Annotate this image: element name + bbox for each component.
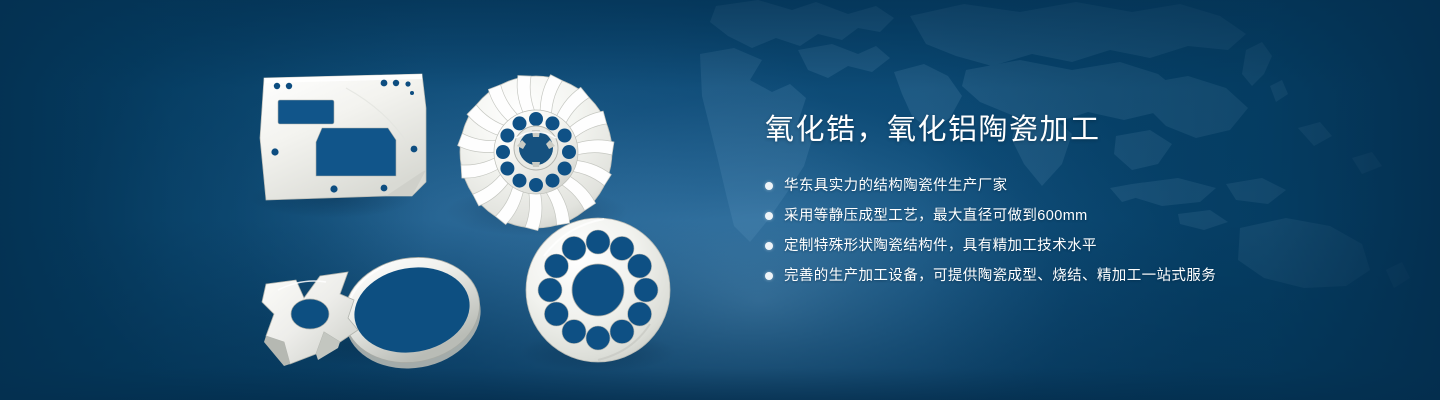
list-item-label: 完善的生产加工设备，可提供陶瓷成型、烧结、精加工一站式服务 [784,266,1216,286]
list-item: 采用等静压成型工艺，最大直径可做到600mm [765,206,1385,226]
list-item-label: 定制特殊形状陶瓷结构件，具有精加工技术水平 [784,236,1097,256]
bullet-dot-icon [765,242,773,250]
product-ceramic-disc [526,218,670,362]
product-ceramic-plate [260,74,426,200]
bullet-dot-icon [765,182,773,190]
promo-banner: 氧化锆，氧化铝陶瓷加工 华东具实力的结构陶瓷件生产厂家 采用等静压成型工艺，最大… [0,0,1440,400]
copy-block: 氧化锆，氧化铝陶瓷加工 华东具实力的结构陶瓷件生产厂家 采用等静压成型工艺，最大… [765,110,1385,286]
list-item-label: 华东具实力的结构陶瓷件生产厂家 [784,176,1008,196]
bullet-dot-icon [765,272,773,280]
list-item: 华东具实力的结构陶瓷件生产厂家 [765,176,1385,196]
list-item-label: 采用等静压成型工艺，最大直径可做到600mm [784,206,1088,226]
product-images [236,52,696,392]
feature-list: 华东具实力的结构陶瓷件生产厂家 采用等静压成型工艺，最大直径可做到600mm 定… [765,176,1385,286]
bullet-dot-icon [765,212,773,220]
list-item: 定制特殊形状陶瓷结构件，具有精加工技术水平 [765,236,1385,256]
page-title: 氧化锆，氧化铝陶瓷加工 [765,110,1385,150]
list-item: 完善的生产加工设备，可提供陶瓷成型、烧结、精加工一站式服务 [765,266,1385,286]
product-ceramic-cross-and-ring [262,247,489,379]
